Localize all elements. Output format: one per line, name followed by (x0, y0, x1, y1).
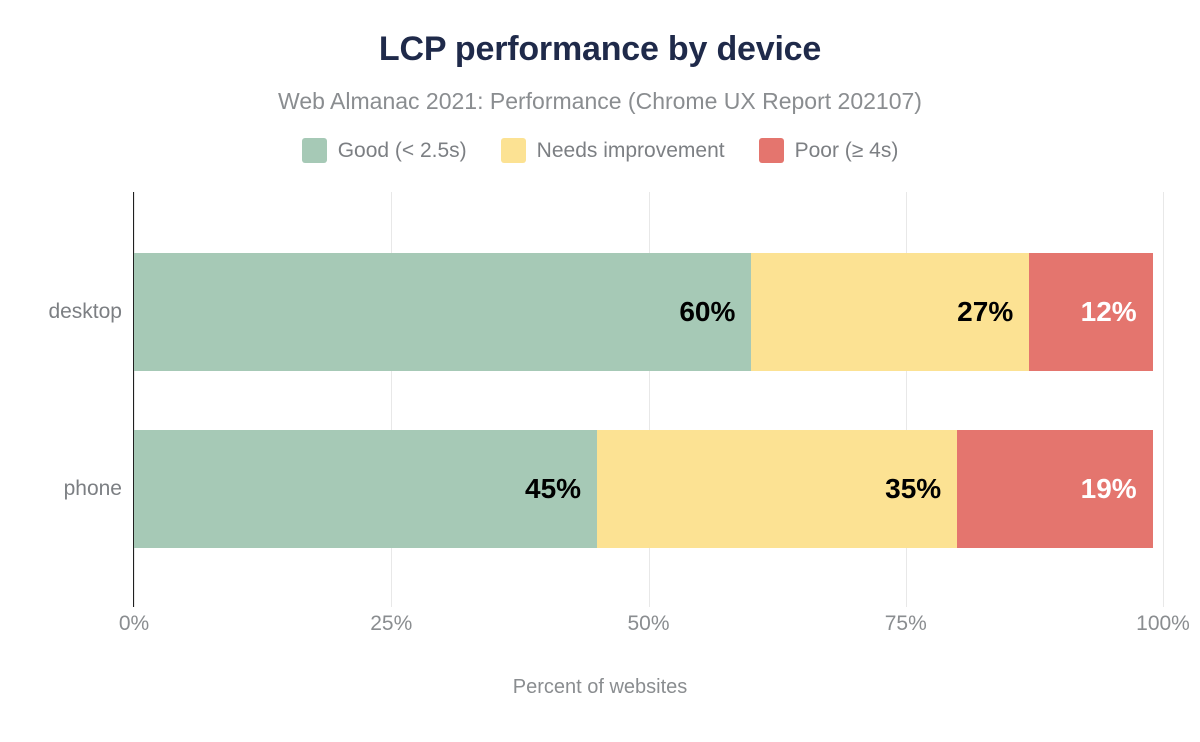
bar-segment-phone-2[interactable]: 19% (957, 430, 1153, 548)
bar-value-label: 19% (1081, 473, 1137, 505)
bar-value-label: 60% (679, 296, 735, 328)
gridline-100 (1163, 192, 1164, 607)
y-axis-label-phone: phone (2, 477, 122, 501)
y-axis-label-desktop: desktop (2, 300, 122, 324)
x-axis-title: Percent of websites (0, 676, 1200, 699)
y-axis-category-labels: desktop phone (0, 192, 122, 607)
bar-segment-desktop-0[interactable]: 60% (134, 253, 751, 371)
bar-segment-phone-1[interactable]: 35% (597, 430, 957, 548)
bar-row-desktop: 60%27%12% (134, 253, 1163, 371)
bar-segment-desktop-2[interactable]: 12% (1029, 253, 1152, 371)
bar-value-label: 35% (885, 473, 941, 505)
x-tick-label-25%: 25% (370, 612, 412, 636)
x-tick-label-50%: 50% (627, 612, 669, 636)
bar-segment-desktop-1[interactable]: 27% (751, 253, 1029, 371)
bar-value-label: 12% (1081, 296, 1137, 328)
x-tick-label-100%: 100% (1136, 612, 1190, 636)
bar-value-label: 27% (957, 296, 1013, 328)
chart-plot: desktop phone 60%27%12%45%35%19% 0%25%50… (0, 0, 1200, 742)
bar-row-phone: 45%35%19% (134, 430, 1163, 548)
plot-area: 60%27%12%45%35%19% (134, 192, 1163, 607)
x-axis-ticks: 0%25%50%75%100% (134, 612, 1163, 644)
bar-segment-phone-0[interactable]: 45% (134, 430, 597, 548)
bar-value-label: 45% (525, 473, 581, 505)
x-tick-label-0%: 0% (119, 612, 149, 636)
x-tick-label-75%: 75% (885, 612, 927, 636)
